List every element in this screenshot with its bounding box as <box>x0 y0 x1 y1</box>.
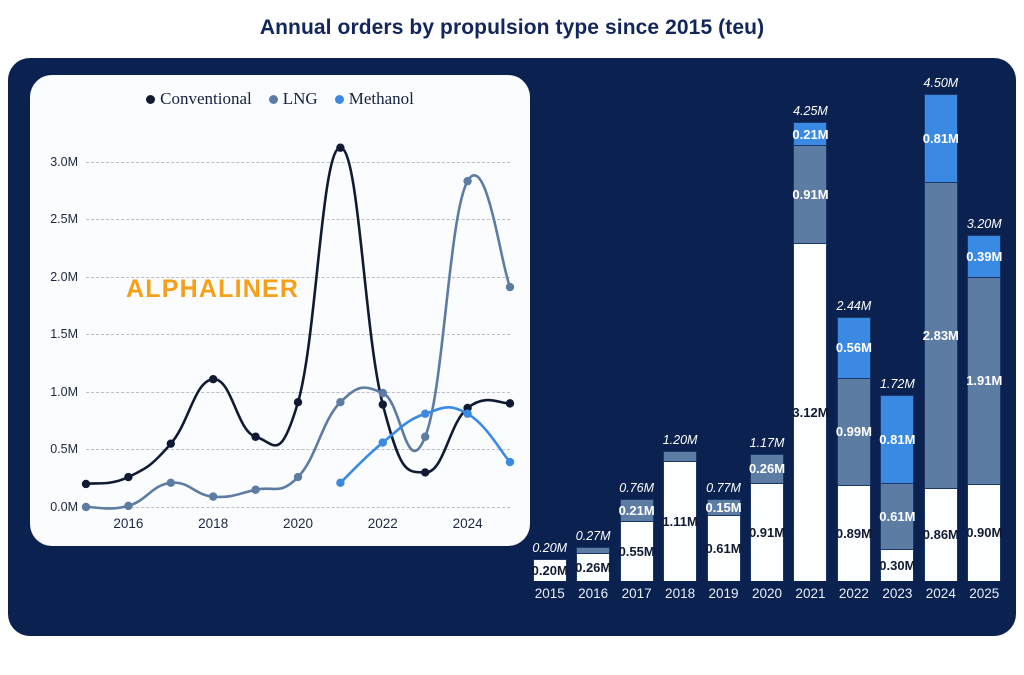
bar-total-label: 1.17M <box>750 436 785 450</box>
bar-total-label: 0.76M <box>619 481 654 495</box>
data-point-conventional[interactable] <box>251 433 259 441</box>
data-point-conventional[interactable] <box>421 468 429 476</box>
bar-segment-lng-2025[interactable]: 1.91M <box>967 277 1001 484</box>
x-axis-tick-label: 2016 <box>113 516 143 531</box>
chart-panel: ConventionalLNGMethanol ALPHALINER 0.0M0… <box>8 58 1016 636</box>
chart-legend: ConventionalLNGMethanol <box>30 89 530 109</box>
dot-icon <box>335 95 344 104</box>
bar-segment-lng-2017[interactable]: 0.21M <box>620 499 654 522</box>
line-conventional <box>86 148 510 484</box>
bar-total-label: 0.27M <box>576 529 611 543</box>
legend-item-methanol[interactable]: Methanol <box>335 89 414 109</box>
bar-segment-label: 0.21M <box>792 127 828 142</box>
data-point-lng[interactable] <box>82 503 90 511</box>
bar-segment-label: 0.21M <box>619 503 655 518</box>
bar-segment-methanol-2024[interactable]: 0.81M <box>924 94 958 182</box>
bar-segment-conventional-2018[interactable]: 1.11M <box>663 461 697 581</box>
bar-segment-label: 0.91M <box>749 525 785 540</box>
stacked-bar-chart: 0.20M0.20M20150.26M0.27M20160.21M0.55M0.… <box>528 68 1006 613</box>
bar-segment-label: 0.30M <box>879 558 915 573</box>
data-point-conventional[interactable] <box>209 375 217 383</box>
data-point-conventional[interactable] <box>124 473 132 481</box>
line-series-group <box>86 127 510 507</box>
bar-segment-label: 0.20M <box>532 563 568 578</box>
bar-segment-conventional-2024[interactable]: 0.86M <box>924 488 958 581</box>
bar-segment-lng-2021[interactable]: 0.91M <box>793 145 827 243</box>
data-point-conventional[interactable] <box>379 400 387 408</box>
data-point-lng[interactable] <box>251 486 259 494</box>
bar-segment-label: 0.91M <box>792 187 828 202</box>
bar-segment-label: 0.39M <box>966 249 1002 264</box>
data-point-lng[interactable] <box>294 473 302 481</box>
data-point-conventional[interactable] <box>336 144 344 152</box>
data-point-methanol[interactable] <box>421 410 429 418</box>
bar-segment-conventional-2015[interactable]: 0.20M <box>533 559 567 581</box>
line-chart-card: ConventionalLNGMethanol ALPHALINER 0.0M0… <box>30 75 530 546</box>
data-point-lng[interactable] <box>167 479 175 487</box>
bar-segment-lng-2024[interactable]: 2.83M <box>924 182 958 488</box>
bar-column-2020[interactable]: 0.26M0.91M1.17M2020 <box>750 454 784 581</box>
bar-column-2023[interactable]: 0.81M0.61M0.30M1.72M2023 <box>880 395 914 581</box>
bar-segment-conventional-2023[interactable]: 0.30M <box>880 549 914 581</box>
bar-total-label: 0.77M <box>706 481 741 495</box>
bar-segment-methanol-2022[interactable]: 0.56M <box>837 317 871 378</box>
data-point-conventional[interactable] <box>82 480 90 488</box>
y-axis-tick-label: 1.5M <box>50 327 78 341</box>
bar-column-2019[interactable]: 0.15M0.61M0.77M2019 <box>707 499 741 581</box>
bar-segment-label: 1.11M <box>662 514 697 529</box>
bar-segment-label: 0.15M <box>705 500 741 515</box>
legend-item-label: Methanol <box>349 89 414 109</box>
bar-segment-label: 0.55M <box>619 544 655 559</box>
bar-column-2018[interactable]: 1.11M1.20M2018 <box>663 451 697 581</box>
bar-segment-conventional-2022[interactable]: 0.89M <box>837 485 871 581</box>
y-axis-tick-label: 3.0M <box>50 155 78 169</box>
bar-segment-methanol-2025[interactable]: 0.39M <box>967 235 1001 277</box>
bar-column-2025[interactable]: 0.39M1.91M0.90M3.20M2025 <box>967 235 1001 581</box>
gridline <box>86 507 510 508</box>
data-point-methanol[interactable] <box>379 438 387 446</box>
bar-total-label: 3.20M <box>967 217 1002 231</box>
data-point-lng[interactable] <box>336 398 344 406</box>
bar-segment-conventional-2025[interactable]: 0.90M <box>967 484 1001 581</box>
x-axis-tick-label: 2020 <box>283 516 313 531</box>
x-axis-tick-label: 2022 <box>368 516 398 531</box>
bar-total-label: 0.20M <box>532 541 567 555</box>
data-point-methanol[interactable] <box>336 479 344 487</box>
data-point-methanol[interactable] <box>506 458 514 466</box>
bar-column-2016[interactable]: 0.26M0.27M2016 <box>576 547 610 581</box>
y-axis-tick-label: 0.5M <box>50 442 78 456</box>
bar-segment-label: 0.26M <box>575 560 611 575</box>
chart-page: Annual orders by propulsion type since 2… <box>0 0 1024 675</box>
legend-item-lng[interactable]: LNG <box>269 89 318 109</box>
y-axis-tick-label: 1.0M <box>50 385 78 399</box>
bar-year-label: 2024 <box>926 586 956 601</box>
data-point-lng[interactable] <box>421 433 429 441</box>
bar-total-label: 1.72M <box>880 377 915 391</box>
bar-year-label: 2021 <box>795 586 825 601</box>
bar-year-label: 2016 <box>578 586 608 601</box>
dot-icon <box>269 95 278 104</box>
data-point-methanol[interactable] <box>463 410 471 418</box>
bar-column-2017[interactable]: 0.21M0.55M0.76M2017 <box>620 499 654 581</box>
bar-year-label: 2015 <box>535 586 565 601</box>
data-point-lng[interactable] <box>379 389 387 397</box>
bar-segment-label: 0.61M <box>879 509 915 524</box>
bar-segment-label: 0.26M <box>749 461 785 476</box>
bar-segment-methanol-2023[interactable]: 0.81M <box>880 395 914 483</box>
bar-segment-lng-2022[interactable]: 0.99M <box>837 378 871 485</box>
bar-segment-conventional-2016[interactable]: 0.26M <box>576 553 610 581</box>
bar-segment-label: 0.81M <box>879 432 915 447</box>
bar-segment-conventional-2019[interactable]: 0.61M <box>707 515 741 581</box>
bar-column-2015[interactable]: 0.20M0.20M2015 <box>533 559 567 581</box>
bar-year-label: 2022 <box>839 586 869 601</box>
data-point-lng[interactable] <box>506 283 514 291</box>
y-axis-tick-label: 0.0M <box>50 500 78 514</box>
x-axis-tick-label: 2024 <box>453 516 483 531</box>
line-lng <box>86 175 510 508</box>
bar-segment-lng-2020[interactable]: 0.26M <box>750 454 784 482</box>
data-point-conventional[interactable] <box>167 439 175 447</box>
bar-segment-methanol-2021[interactable]: 0.21M <box>793 122 827 145</box>
bar-year-label: 2023 <box>882 586 912 601</box>
bar-segment-label: 0.86M <box>923 527 959 542</box>
bar-segment-lng-2018[interactable] <box>663 451 697 461</box>
bar-total-label: 2.44M <box>837 299 872 313</box>
bar-total-label: 1.20M <box>663 433 698 447</box>
bar-segment-label: 0.81M <box>923 131 959 146</box>
legend-item-conventional[interactable]: Conventional <box>146 89 252 109</box>
bar-segment-conventional-2020[interactable]: 0.91M <box>750 483 784 581</box>
bar-segment-label: 3.12M <box>792 405 828 420</box>
bar-year-label: 2018 <box>665 586 695 601</box>
bar-year-label: 2019 <box>709 586 739 601</box>
bar-segment-label: 1.91M <box>966 373 1002 388</box>
line-plot-area: ALPHALINER 0.0M0.5M1.0M1.5M2.0M2.5M3.0M2… <box>86 127 510 507</box>
data-point-conventional[interactable] <box>506 399 514 407</box>
bar-total-label: 4.25M <box>793 104 828 118</box>
data-point-lng[interactable] <box>463 177 471 185</box>
bar-segment-label: 0.99M <box>836 424 872 439</box>
bar-column-2024[interactable]: 0.81M2.83M0.86M4.50M2024 <box>924 94 958 581</box>
bar-year-label: 2017 <box>622 586 652 601</box>
y-axis-tick-label: 2.0M <box>50 270 78 284</box>
bar-column-2021[interactable]: 0.21M0.91M3.12M4.25M2021 <box>793 122 827 581</box>
legend-item-label: LNG <box>283 89 318 109</box>
bar-segment-label: 0.61M <box>705 541 741 556</box>
bar-segment-conventional-2017[interactable]: 0.55M <box>620 521 654 581</box>
data-point-conventional[interactable] <box>294 398 302 406</box>
bar-year-label: 2020 <box>752 586 782 601</box>
bar-segment-label: 0.56M <box>836 340 872 355</box>
legend-item-label: Conventional <box>160 89 252 109</box>
bar-total-label: 4.50M <box>923 76 958 90</box>
bar-segment-label: 2.83M <box>923 328 959 343</box>
page-title: Annual orders by propulsion type since 2… <box>0 16 1024 40</box>
y-axis-tick-label: 2.5M <box>50 212 78 226</box>
bar-segment-lng-2023[interactable]: 0.61M <box>880 483 914 549</box>
x-axis-tick-label: 2018 <box>198 516 228 531</box>
bar-segment-label: 0.89M <box>836 526 872 541</box>
bar-segment-label: 0.90M <box>966 525 1002 540</box>
bar-segment-lng-2019[interactable]: 0.15M <box>707 499 741 515</box>
bar-year-label: 2025 <box>969 586 999 601</box>
dot-icon <box>146 95 155 104</box>
data-point-lng[interactable] <box>209 492 217 500</box>
data-point-lng[interactable] <box>124 502 132 510</box>
bar-segment-conventional-2021[interactable]: 3.12M <box>793 243 827 581</box>
bar-column-2022[interactable]: 0.56M0.99M0.89M2.44M2022 <box>837 317 871 581</box>
